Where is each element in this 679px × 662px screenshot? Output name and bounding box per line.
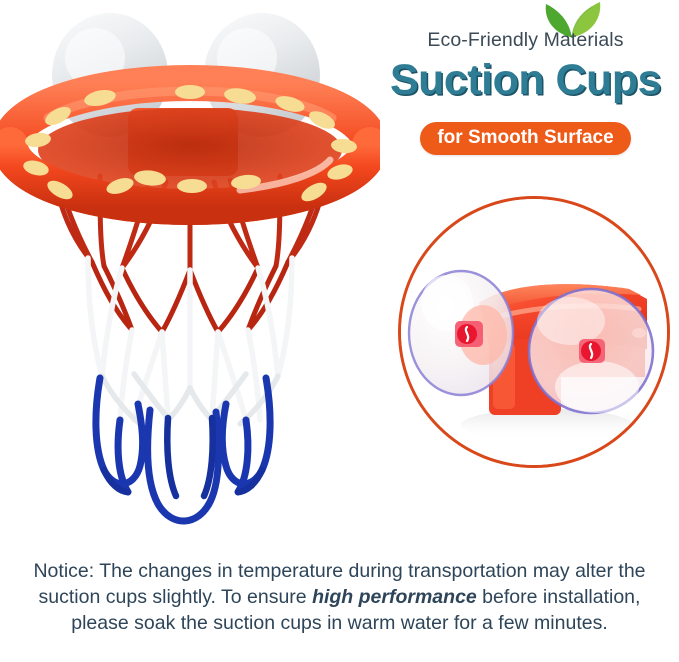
product-photo-basketball-hoop bbox=[0, 0, 380, 545]
hoop-illustration bbox=[0, 0, 380, 545]
badge-container: for Smooth Surface bbox=[372, 122, 679, 155]
page-title: Suction Cups bbox=[372, 55, 679, 105]
notice-emphasis: high performance bbox=[312, 586, 477, 608]
suction-cup-right bbox=[529, 289, 653, 413]
header-block: Eco-Friendly Materials Suction Cups for … bbox=[372, 0, 679, 170]
notice-line-3: please soak the suction cups in warm wat… bbox=[0, 610, 679, 636]
marketing-image-canvas: Eco-Friendly Materials Suction Cups for … bbox=[0, 0, 679, 662]
suction-cup-closeup-illustration bbox=[401, 199, 667, 465]
notice-line-2: suction cups slightly. To ensure high pe… bbox=[0, 584, 679, 610]
suction-cup-closeup-inset bbox=[398, 196, 670, 468]
notice-line-2-a: suction cups slightly. To ensure bbox=[39, 586, 313, 608]
eco-friendly-label: Eco-Friendly Materials bbox=[372, 29, 679, 52]
smooth-surface-badge: for Smooth Surface bbox=[420, 122, 630, 155]
inset-photo bbox=[401, 199, 667, 465]
notice-line-1: Notice: The changes in temperature durin… bbox=[0, 558, 679, 584]
notice-text: Notice: The changes in temperature durin… bbox=[0, 558, 679, 636]
notice-line-2-b: before installation, bbox=[477, 586, 641, 608]
suction-cup-left bbox=[409, 271, 513, 395]
